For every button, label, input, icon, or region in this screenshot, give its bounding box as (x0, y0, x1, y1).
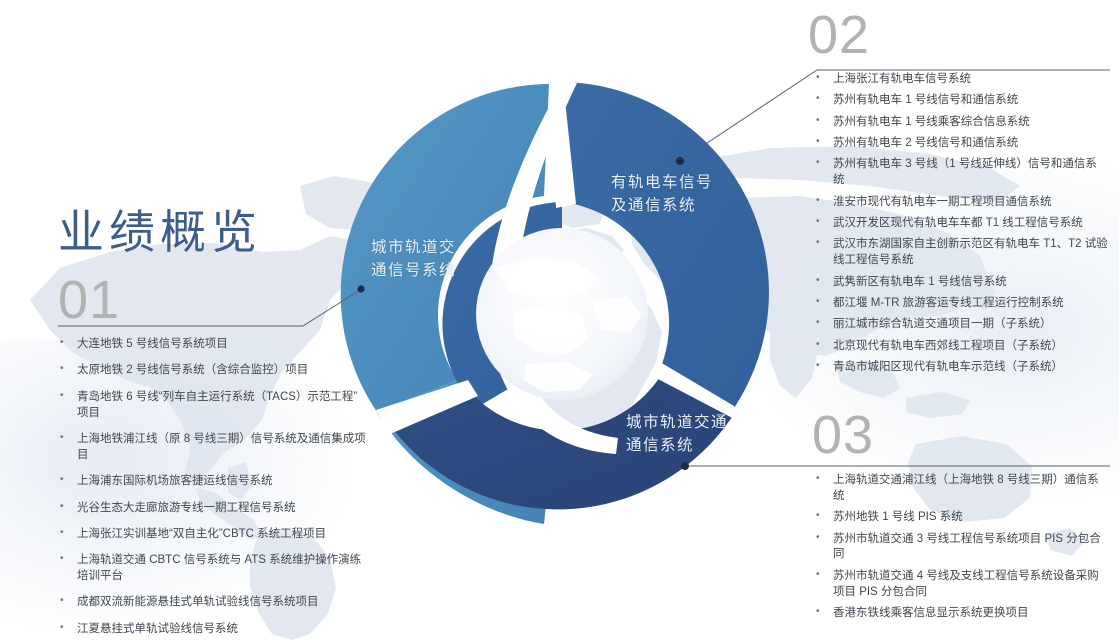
list-item: 光谷生态大走廊旅游专线一期工程信号系统 (56, 501, 366, 517)
donut-chart (330, 62, 790, 562)
section-number-01: 01 (58, 273, 120, 327)
list-item: 上海张江有轨电车信号系统 (812, 72, 1108, 88)
section-03-list: 上海轨道交通浦江线（上海地铁 8 号线三期）通信系统 苏州地铁 1 号线 PIS… (812, 473, 1108, 627)
list-item: 都江堰 M-TR 旅游客运专线工程运行控制系统 (812, 296, 1108, 312)
list-item: 武隽新区有轨电车 1 号线信号系统 (812, 275, 1108, 291)
list-item: 上海轨道交通 CBTC 信号系统与 ATS 系统维护操作演练培训平台 (56, 553, 366, 585)
slide-canvas: 城市轨道交 通信号系统 有轨电车信号 及通信系统 城市轨道交通 通信系统 业绩概… (0, 0, 1119, 640)
donut-label-urban-rail-comm: 城市轨道交通 通信系统 (626, 411, 728, 458)
list-item: 青岛市城阳区现代有轨电车示范线（子系统） (812, 360, 1108, 376)
list-item: 武汉开发区现代有轨电车车都 T1 线工程信号系统 (812, 216, 1108, 232)
list-item: 上海浦东国际机场旅客捷运线信号系统 (56, 474, 366, 490)
list-item: 上海轨道交通浦江线（上海地铁 8 号线三期）通信系统 (812, 473, 1108, 505)
list-item: 苏州市轨道交通 4 号线及支线工程信号系统设备采购项目 PIS 分包合同 (812, 569, 1108, 601)
list-item: 苏州有轨电车 1 号线乘客综合信息系统 (812, 115, 1108, 131)
list-item: 大连地铁 5 号线信号系统项目 (56, 337, 366, 353)
section-number-03: 03 (812, 408, 874, 462)
list-item: 北京现代有轨电车西郊线工程项目（子系统） (812, 339, 1108, 355)
list-item: 苏州有轨电车 3 号线（1 号线延伸线）信号和通信系统 (812, 157, 1108, 189)
section-02-list: 上海张江有轨电车信号系统 苏州有轨电车 1 号线信号和通信系统 苏州有轨电车 1… (812, 72, 1108, 381)
section-01-list: 大连地铁 5 号线信号系统项目 太原地铁 2 号线信号系统（含综合监控）项目 青… (56, 337, 366, 640)
list-item: 武汉市东湖国家自主创新示范区有轨电车 T1、T2 试验线工程信号系统 (812, 237, 1108, 269)
list-item: 苏州地铁 1 号线 PIS 系统 (812, 510, 1108, 526)
section-number-02: 02 (808, 8, 870, 62)
donut-label-tram-signal-comm: 有轨电车信号 及通信系统 (611, 171, 713, 218)
list-item: 淮安市现代有轨电车一期工程项目通信系统 (812, 195, 1108, 211)
donut-label-urban-rail-signal: 城市轨道交 通信号系统 (371, 236, 456, 283)
list-item: 太原地铁 2 号线信号系统（含综合监控）项目 (56, 363, 366, 379)
project-list-01: 大连地铁 5 号线信号系统项目 太原地铁 2 号线信号系统（含综合监控）项目 青… (56, 337, 366, 640)
list-item: 丽江城市综合轨道交通项目一期（子系统） (812, 317, 1108, 333)
project-list-02: 上海张江有轨电车信号系统 苏州有轨电车 1 号线信号和通信系统 苏州有轨电车 1… (812, 72, 1108, 376)
list-item: 成都双流新能源悬挂式单轨试验线信号系统项目 (56, 595, 366, 611)
list-item: 江夏悬挂式单轨试验线信号系统 (56, 622, 366, 638)
list-item: 上海地铁浦江线（原 8 号线三期）信号系统及通信集成项目 (56, 432, 366, 464)
project-list-03: 上海轨道交通浦江线（上海地铁 8 号线三期）通信系统 苏州地铁 1 号线 PIS… (812, 473, 1108, 622)
list-item: 香港东铁线乘客信息显示系统更换项目 (812, 606, 1108, 622)
list-item: 青岛地铁 6 号线“列车自主运行系统（TACS）示范工程”项目 (56, 390, 366, 422)
list-item: 苏州有轨电车 2 号线信号和通信系统 (812, 136, 1108, 152)
page-title: 业绩概览 (58, 196, 262, 262)
list-item: 苏州市轨道交通 3 号线工程信号系统项目 PIS 分包合同 (812, 532, 1108, 564)
list-item: 上海张江实训基地“双自主化”CBTC 系统工程项目 (56, 527, 366, 543)
list-item: 苏州有轨电车 1 号线信号和通信系统 (812, 93, 1108, 109)
